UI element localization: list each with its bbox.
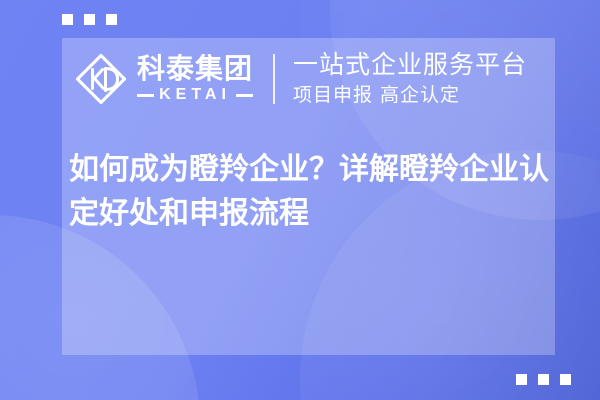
brand-wordmark: 科泰集团 KETAI bbox=[137, 55, 253, 103]
cover-canvas: 科泰集团 KETAI 一站式企业服务平台 项目申报 高企认定 如何成为瞪羚企业？… bbox=[0, 0, 600, 400]
brand-logo: 科泰集团 KETAI bbox=[74, 52, 253, 106]
square-dot-icon bbox=[62, 14, 73, 25]
content-panel: 科泰集团 KETAI 一站式企业服务平台 项目申报 高企认定 如何成为瞪羚企业？… bbox=[62, 38, 555, 355]
tagline-group: 一站式企业服务平台 项目申报 高企认定 bbox=[293, 51, 555, 108]
square-dot-icon bbox=[84, 14, 95, 25]
square-dot-icon bbox=[106, 14, 117, 25]
square-dot-icon bbox=[560, 374, 571, 385]
square-dot-icon bbox=[538, 374, 549, 385]
page-title: 如何成为瞪羚企业？详解瞪羚企业认定好处和申报流程 bbox=[69, 148, 555, 237]
brand-rule-right-icon bbox=[236, 94, 253, 97]
square-dot-icon bbox=[516, 374, 527, 385]
tagline-secondary: 项目申报 高企认定 bbox=[293, 84, 555, 107]
brand-name-en-row: KETAI bbox=[137, 87, 253, 103]
brand-header: 科泰集团 KETAI 一站式企业服务平台 项目申报 高企认定 bbox=[62, 38, 555, 120]
decorative-dots-bottom-right bbox=[516, 374, 571, 385]
decorative-dots-top-left bbox=[62, 14, 117, 25]
tagline-primary: 一站式企业服务平台 bbox=[293, 51, 555, 80]
brand-name-cn: 科泰集团 bbox=[137, 55, 253, 83]
brand-name-en: KETAI bbox=[159, 87, 231, 103]
ketai-diamond-monogram-logo-icon bbox=[74, 52, 128, 106]
brand-rule-left-icon bbox=[137, 94, 154, 97]
header-divider bbox=[273, 54, 275, 104]
